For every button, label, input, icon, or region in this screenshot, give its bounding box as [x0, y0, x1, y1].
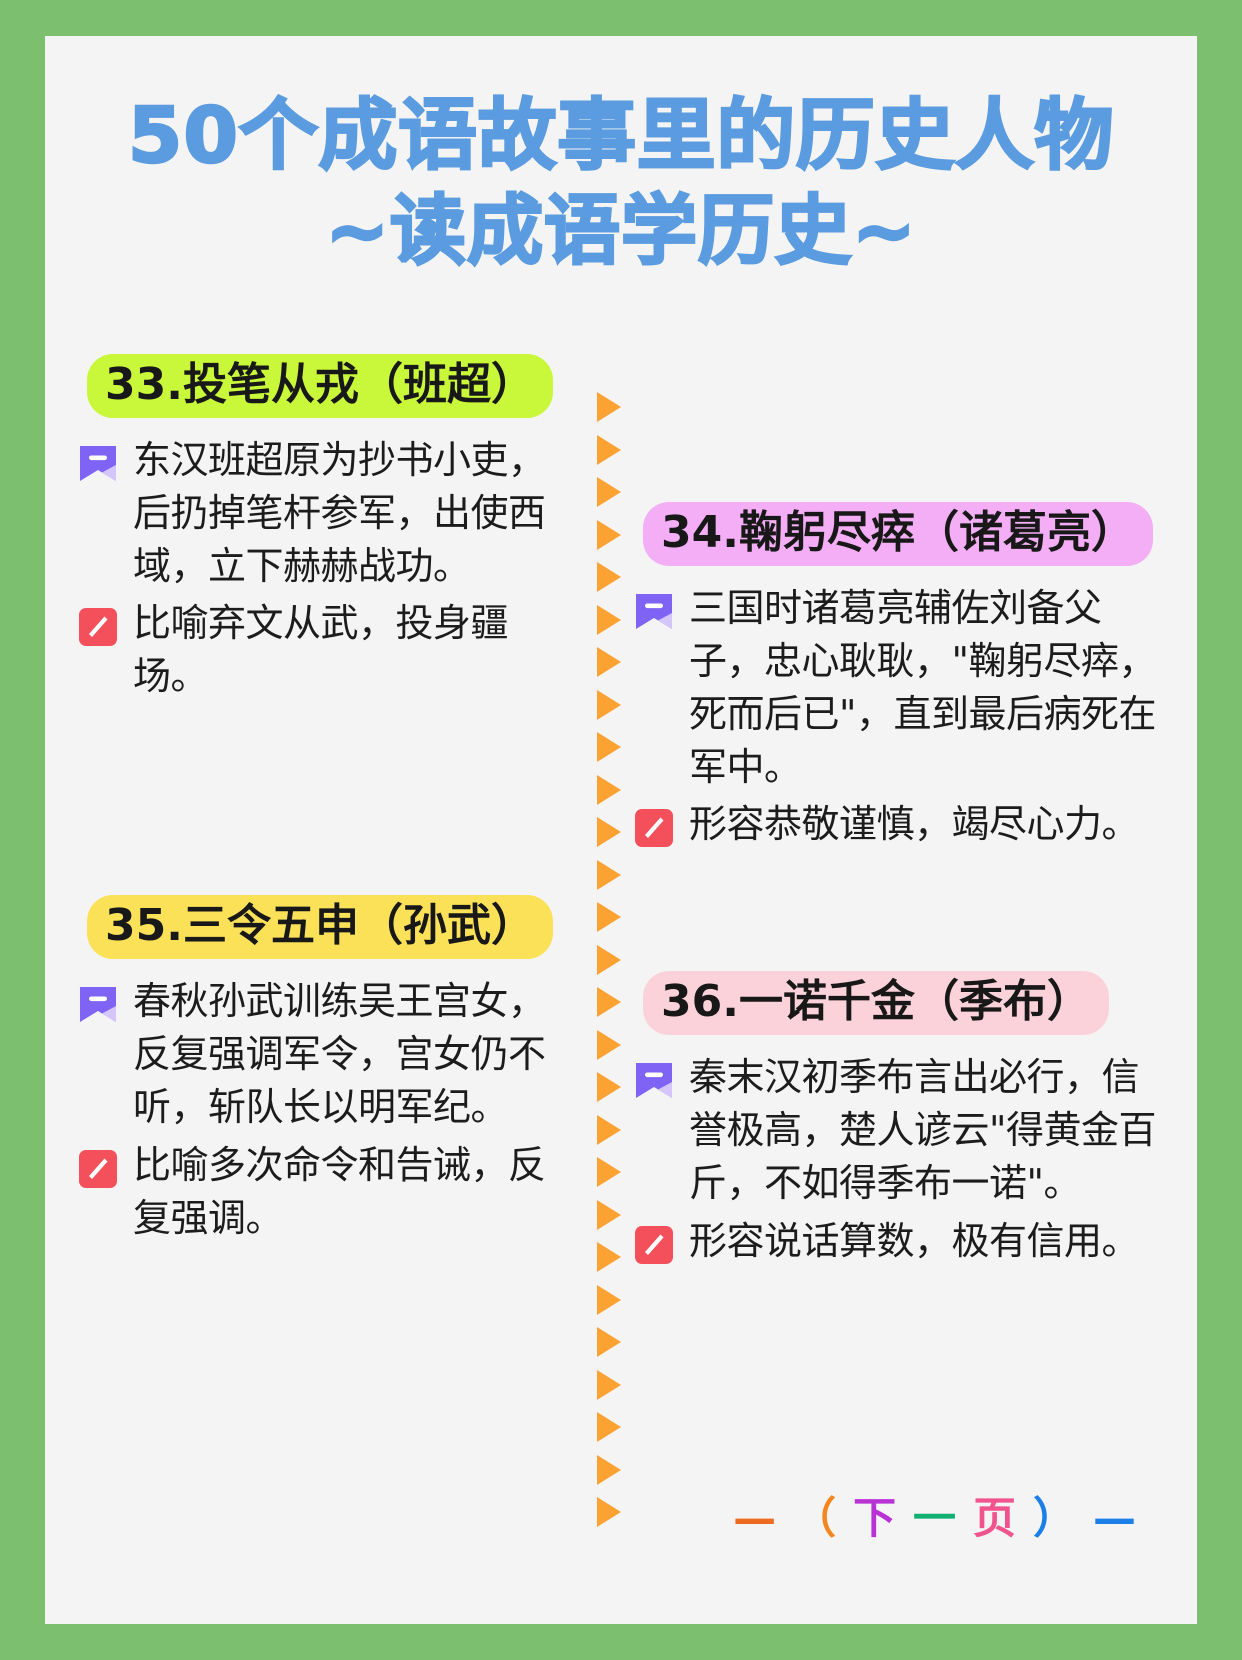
- triangle-right-icon: [597, 1412, 621, 1442]
- triangle-right-icon: [597, 1200, 621, 1230]
- entry-35-meaning: 比喻多次命令和告诫，反复强调。: [67, 1139, 587, 1245]
- entry-33-meaning: 比喻弃文从武，投身疆场。: [67, 597, 587, 703]
- entry-34-story: 三国时诸葛亮辅佐刘备父子，忠心耿耿，"鞠躬尽瘁，死而后已"，直到最后病死在军中。: [623, 582, 1175, 795]
- triangle-right-icon: [597, 1327, 621, 1357]
- entry-33-meaning-text: 比喻弃文从武，投身疆场。: [133, 597, 563, 703]
- entry-34-heading: 34.鞠躬尽瘁（诸葛亮）: [643, 502, 1153, 566]
- entry-36-heading: 36.一诺千金（季布）: [643, 971, 1109, 1035]
- left-column: 33.投笔从戎（班超） 东汉班超原为抄书小吏，后扔掉笔杆参军，出使西域，立下赫赫…: [67, 354, 587, 1255]
- entry-36: 36.一诺千金（季布） 秦末汉初季布言出必行，信誉极高，楚人谚云"得黄金百斤，不…: [623, 971, 1175, 1267]
- bookmark-icon: [633, 591, 675, 633]
- entry-33-story-text: 东汉班超原为抄书小吏，后扔掉笔杆参军，出使西域，立下赫赫战功。: [133, 434, 563, 594]
- triangle-right-icon: [597, 647, 621, 677]
- pencil-icon: [633, 1224, 675, 1266]
- title-line-2: ~读成语学历史~: [45, 193, 1197, 269]
- page-title: 50个成语故事里的历史人物 ~读成语学历史~: [45, 98, 1197, 269]
- triangle-right-icon: [597, 562, 621, 592]
- triangle-right-icon: [597, 1370, 621, 1400]
- triangle-right-icon: [597, 1242, 621, 1272]
- pencil-icon: [77, 606, 119, 648]
- footer-char-ye: 页: [973, 1494, 1016, 1544]
- entry-33: 33.投笔从戎（班超） 东汉班超原为抄书小吏，后扔掉笔杆参军，出使西域，立下赫赫…: [67, 354, 587, 703]
- entry-34: 34.鞠躬尽瘁（诸葛亮） 三国时诸葛亮辅佐刘备父子，忠心耿耿，"鞠躬尽瘁，死而后…: [623, 502, 1175, 851]
- entry-33-story: 东汉班超原为抄书小吏，后扔掉笔杆参军，出使西域，立下赫赫战功。: [67, 434, 587, 594]
- triangle-right-icon: [597, 987, 621, 1017]
- triangle-right-icon: [597, 1455, 621, 1485]
- triangle-right-icon: [597, 775, 621, 805]
- triangle-right-icon: [597, 945, 621, 975]
- triangle-right-icon: [597, 817, 621, 847]
- poster-page: 50个成语故事里的历史人物 ~读成语学历史~ 33.投笔从戎（班超）: [0, 0, 1242, 1660]
- entry-36-meaning: 形容说话算数，极有信用。: [623, 1215, 1175, 1268]
- bookmark-icon: [77, 443, 119, 485]
- entry-34-meaning-text: 形容恭敬谨慎，竭尽心力。: [689, 798, 1157, 851]
- pencil-icon: [77, 1148, 119, 1190]
- entry-35-heading-text: 35.三令五申（孙武）: [105, 902, 535, 950]
- triangle-right-icon: [597, 477, 621, 507]
- entry-36-heading-text: 36.一诺千金（季布）: [661, 978, 1091, 1026]
- entry-35-story: 春秋孙武训练吴王宫女，反复强调军令，宫女仍不听，斩队长以明军纪。: [67, 975, 587, 1135]
- right-column: 34.鞠躬尽瘁（诸葛亮） 三国时诸葛亮辅佐刘备父子，忠心耿耿，"鞠躬尽瘁，死而后…: [623, 354, 1175, 1278]
- pencil-icon: [633, 807, 675, 849]
- triangle-right-icon: [597, 520, 621, 550]
- next-page-indicator[interactable]: — （ 下 一 页 ） —: [45, 1484, 1197, 1546]
- entry-33-heading-text: 33.投笔从戎（班超）: [105, 361, 535, 409]
- entry-36-story-text: 秦末汉初季布言出必行，信誉极高，楚人谚云"得黄金百斤，不如得季布一诺"。: [689, 1051, 1157, 1211]
- triangle-right-icon: [597, 1285, 621, 1315]
- triangle-right-icon: [597, 392, 621, 422]
- bookmark-icon: [77, 984, 119, 1026]
- entry-34-meaning: 形容恭敬谨慎，竭尽心力。: [623, 798, 1175, 851]
- triangle-right-icon: [597, 732, 621, 762]
- bookmark-icon: [633, 1060, 675, 1102]
- title-line-1: 50个成语故事里的历史人物: [33, 98, 1208, 175]
- triangle-right-icon: [597, 902, 621, 932]
- footer-paren-close: ）: [1033, 1494, 1076, 1544]
- triangle-right-icon: [597, 1115, 621, 1145]
- footer-char-yi: 一: [913, 1494, 956, 1544]
- triangle-right-icon: [597, 435, 621, 465]
- triangle-right-icon: [597, 1030, 621, 1060]
- entry-34-story-text: 三国时诸葛亮辅佐刘备父子，忠心耿耿，"鞠躬尽瘁，死而后已"，直到最后病死在军中。: [689, 582, 1157, 795]
- triangle-right-icon: [597, 1072, 621, 1102]
- entry-33-heading: 33.投笔从戎（班超）: [87, 354, 553, 418]
- footer-char-xia: 下: [853, 1494, 896, 1544]
- triangle-right-icon: [597, 605, 621, 635]
- entry-35-meaning-text: 比喻多次命令和告诫，反复强调。: [133, 1139, 563, 1245]
- triangle-right-icon: [597, 860, 621, 890]
- triangle-right-icon: [597, 1157, 621, 1187]
- entry-35-heading: 35.三令五申（孙武）: [87, 895, 553, 959]
- footer-dash-left: —: [733, 1494, 776, 1544]
- entry-34-heading-text: 34.鞠躬尽瘁（诸葛亮）: [661, 509, 1135, 557]
- entry-36-meaning-text: 形容说话算数，极有信用。: [689, 1215, 1157, 1268]
- footer-paren-open: （: [793, 1494, 836, 1544]
- footer-dash-right: —: [1093, 1494, 1136, 1544]
- poster-card: 50个成语故事里的历史人物 ~读成语学历史~ 33.投笔从戎（班超）: [45, 36, 1197, 1624]
- triangle-right-icon: [597, 690, 621, 720]
- entry-35: 35.三令五申（孙武） 春秋孙武训练吴王宫女，反复强调军令，宫女仍不听，斩队长以…: [67, 895, 587, 1244]
- entry-36-story: 秦末汉初季布言出必行，信誉极高，楚人谚云"得黄金百斤，不如得季布一诺"。: [623, 1051, 1175, 1211]
- entry-35-story-text: 春秋孙武训练吴王宫女，反复强调军令，宫女仍不听，斩队长以明军纪。: [133, 975, 563, 1135]
